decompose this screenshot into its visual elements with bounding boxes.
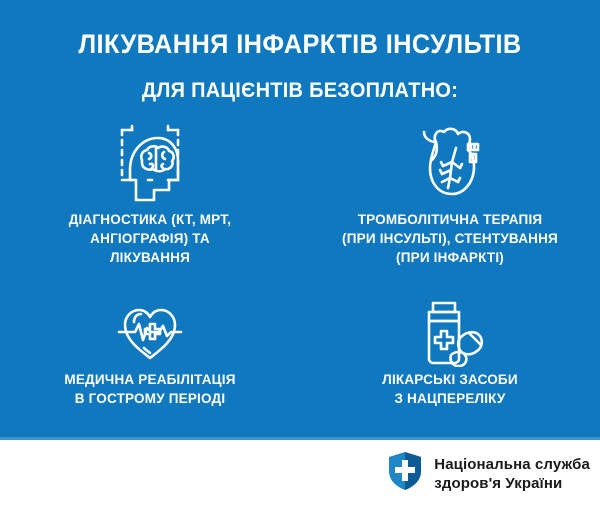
benefit-item-medicines: ЛІКАРСЬКІ ЗАСОБИ З НАЦПЕРЕЛІКУ (300, 300, 600, 408)
infographic-poster: ЛІКУВАННЯ ІНФАРКТІВ ІНСУЛЬТІВ ДЛЯ ПАЦІЄН… (0, 0, 600, 512)
benefit-caption: ТРОМБОЛІТИЧНА ТЕРАПІЯ (ПРИ ІНСУЛЬТІ), СТ… (300, 210, 600, 267)
organization-line: здоров'я України (434, 474, 590, 493)
caption-line: ЛІКАРСЬКІ ЗАСОБИ (322, 370, 578, 389)
benefit-caption: ЛІКАРСЬКІ ЗАСОБИ З НАЦПЕРЕЛІКУ (300, 370, 600, 408)
blue-content-panel: ЛІКУВАННЯ ІНФАРКТІВ ІНСУЛЬТІВ ДЛЯ ПАЦІЄН… (0, 0, 600, 440)
anatomical-heart-stent-icon (412, 122, 488, 209)
benefits-grid: ДІАГНОСТИКА (КТ, МРТ, АНГІОГРАФІЯ) ТА ЛІ… (0, 120, 600, 420)
caption-line: (ПРИ ІНСУЛЬТІ), СТЕНТУВАННЯ (322, 229, 578, 248)
head-brain-scan-icon (108, 122, 192, 209)
caption-line: (ПРИ ІНФАРКТІ) (322, 248, 578, 267)
page-subtitle: ДЛЯ ПАЦІЄНТІВ БЕЗОПЛАТНО: (15, 78, 585, 104)
benefit-item-thrombolysis: ТРОМБОЛІТИЧНА ТЕРАПІЯ (ПРИ ІНСУЛЬТІ), СТ… (300, 120, 600, 267)
caption-line: МЕДИЧНА РЕАБІЛІТАЦІЯ (22, 370, 278, 389)
caption-line: З НАЦПЕРЕЛІКУ (322, 389, 578, 408)
shield-cross-logo-icon (387, 451, 423, 496)
caption-line: В ГОСТРОМУ ПЕРІОДІ (22, 389, 278, 408)
icon-container (300, 300, 600, 370)
benefit-item-rehabilitation: МЕДИЧНА РЕАБІЛІТАЦІЯ В ГОСТРОМУ ПЕРІОДІ (0, 300, 300, 408)
icon-container (300, 120, 600, 210)
icon-container (0, 300, 300, 370)
footer-bar: Національна служба здоров'я України (0, 443, 600, 512)
heart-ecg-cross-icon (111, 302, 189, 369)
page-title: ЛІКУВАННЯ ІНФАРКТІВ ІНСУЛЬТІВ (18, 28, 582, 60)
caption-line: ДІАГНОСТИКА (КТ, МРТ, (22, 210, 278, 229)
benefit-item-diagnostics: ДІАГНОСТИКА (КТ, МРТ, АНГІОГРАФІЯ) ТА ЛІ… (0, 120, 300, 267)
organization-name: Національна служба здоров'я України (434, 455, 590, 493)
icon-container (0, 120, 300, 210)
caption-line: ТРОМБОЛІТИЧНА ТЕРАПІЯ (322, 210, 578, 229)
caption-line: ЛІКУВАННЯ (22, 248, 278, 267)
organization-line: Національна служба (434, 455, 590, 474)
caption-line: АНГІОГРАФІЯ) ТА (22, 229, 278, 248)
benefit-caption: МЕДИЧНА РЕАБІЛІТАЦІЯ В ГОСТРОМУ ПЕРІОДІ (0, 370, 300, 408)
pill-bottle-capsules-icon (415, 299, 485, 372)
nhsu-logo: Національна служба здоров'я України (387, 451, 590, 496)
benefit-caption: ДІАГНОСТИКА (КТ, МРТ, АНГІОГРАФІЯ) ТА ЛІ… (0, 210, 300, 267)
